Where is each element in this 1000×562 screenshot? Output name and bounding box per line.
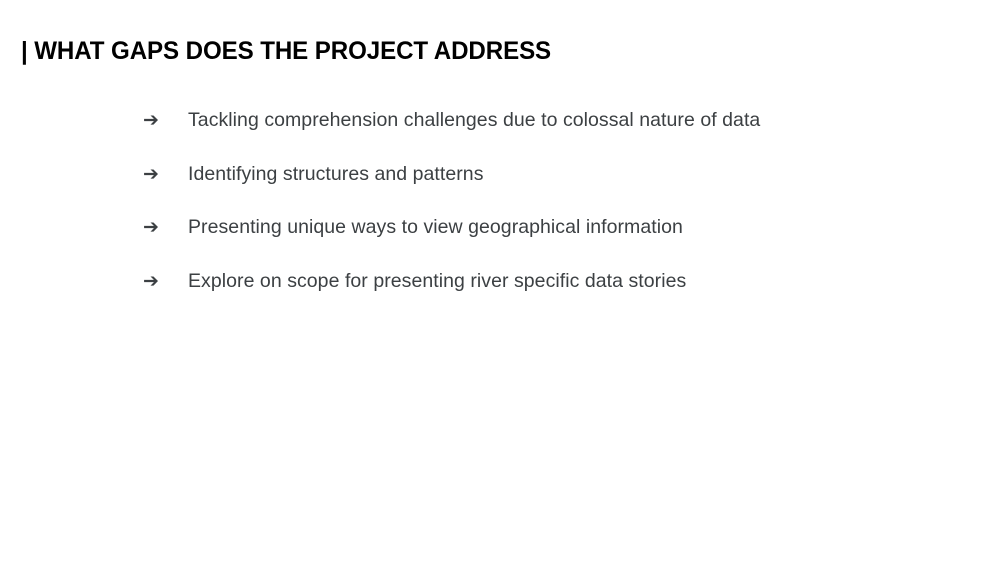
arrow-right-icon: ➔ (143, 106, 188, 134)
list-item-label: Identifying structures and patterns (188, 160, 963, 188)
bullet-list: ➔ Tackling comprehension challenges due … (143, 106, 963, 321)
list-item-label: Explore on scope for presenting river sp… (188, 267, 963, 295)
list-item-label: Tackling comprehension challenges due to… (188, 106, 963, 134)
list-item: ➔ Presenting unique ways to view geograp… (143, 213, 963, 267)
arrow-right-icon: ➔ (143, 160, 188, 188)
list-item: ➔ Tackling comprehension challenges due … (143, 106, 963, 160)
list-item: ➔ Explore on scope for presenting river … (143, 267, 963, 321)
arrow-right-icon: ➔ (143, 267, 188, 295)
arrow-right-icon: ➔ (143, 213, 188, 241)
list-item-label: Presenting unique ways to view geographi… (188, 213, 963, 241)
page-title: | WHAT GAPS DOES THE PROJECT ADDRESS (21, 36, 551, 66)
slide-canvas: | WHAT GAPS DOES THE PROJECT ADDRESS ➔ T… (0, 0, 1000, 562)
list-item: ➔ Identifying structures and patterns (143, 160, 963, 214)
